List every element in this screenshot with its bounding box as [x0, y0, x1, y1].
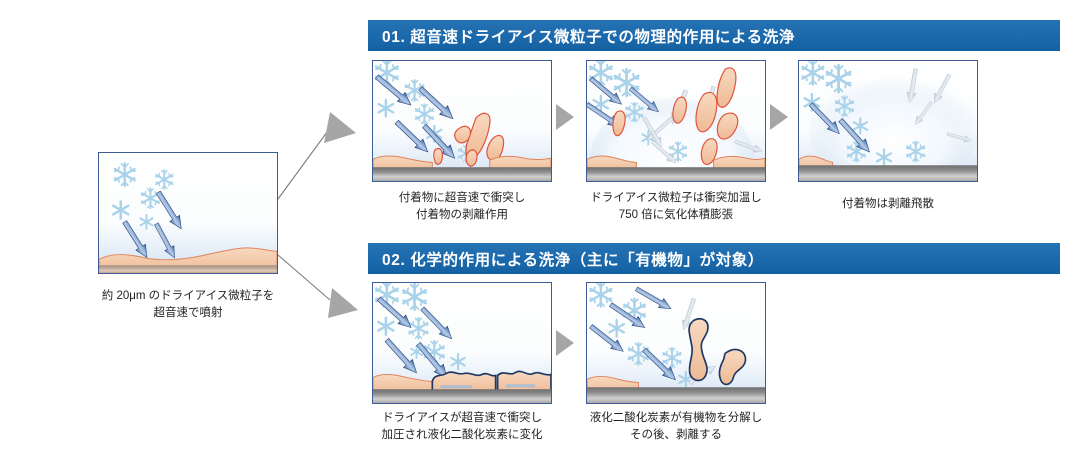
chemical-step-1-caption: ドライアイスが超音速で衝突し 加圧され液化二酸化炭素に変化 [362, 410, 562, 443]
physical-step-2-expansion [586, 60, 766, 182]
physical-step-3-removed [798, 60, 978, 182]
chemical-step-2-dissolve [586, 282, 766, 404]
branch-arrowhead-row2 [328, 288, 358, 318]
step-arrow-01-1 [556, 104, 574, 130]
physical-step-1-caption: 付着物に超音速で衝突し 付着物の剥離作用 [362, 190, 562, 223]
section-01-header: 01. 超音速ドライアイス微粒子での物理的作用による洗浄 [368, 20, 1060, 51]
branch-arrowhead-row1 [324, 112, 356, 143]
chemical-step-1-liquefy [372, 282, 552, 404]
dry-ice-spray-panel [98, 152, 278, 274]
source-caption: 約 20μm のドライアイス微粒子を 超音速で噴射 [88, 288, 288, 321]
step-arrow-02-1 [556, 330, 574, 356]
physical-step-3-caption: 付着物は剥離飛散 [788, 196, 988, 213]
diagram-canvas: 約 20μm のドライアイス微粒子を 超音速で噴射 01. 超音速ドライアイス微… [0, 0, 1080, 450]
physical-step-2-caption: ドライアイス微粒子は衝突加温し 750 倍に気化体積膨張 [576, 190, 776, 223]
physical-step-1-impact [372, 60, 552, 182]
chemical-step-2-caption: 液化二酸化炭素が有機物を分解し その後、剥離する [576, 410, 776, 443]
step-arrow-01-2 [770, 104, 788, 130]
section-02-header: 02. 化学的作用による洗浄（主に「有機物」が対象） [368, 243, 1060, 274]
